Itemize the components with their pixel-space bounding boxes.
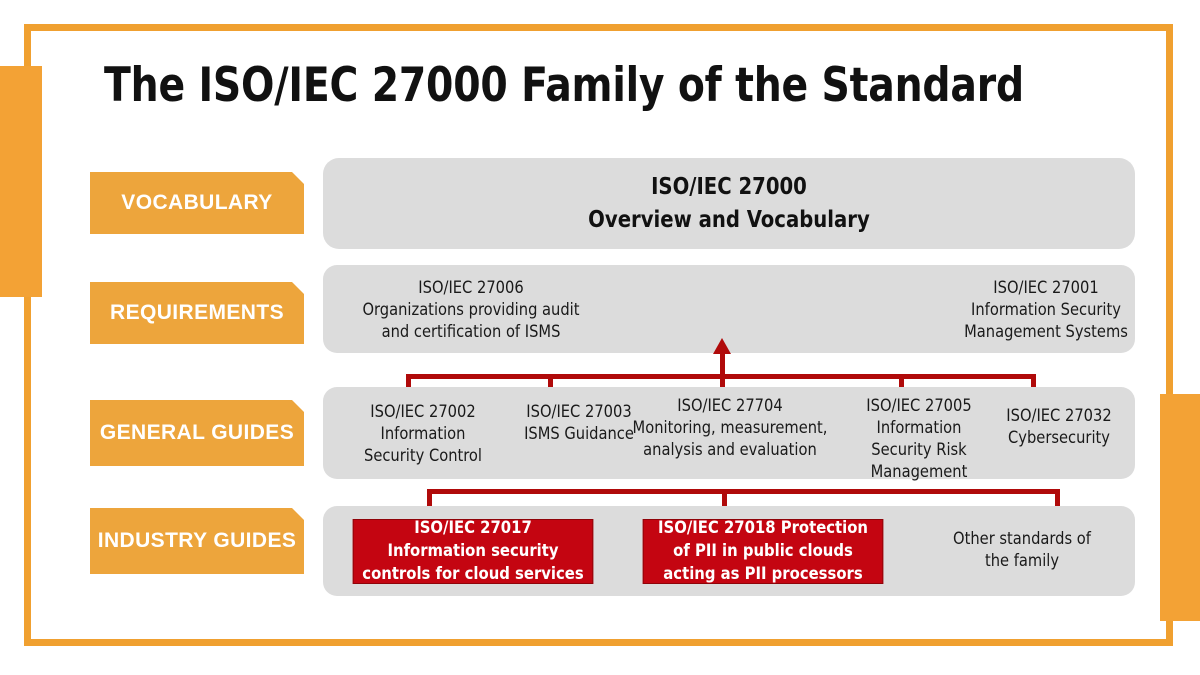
standard-card-27701[interactable]: ISO/IEC 27701 Privacy Information Manage… bbox=[1194, 277, 1200, 343]
standard-card-27006[interactable]: ISO/IEC 27006 Organizations providing au… bbox=[342, 277, 599, 343]
standard-card-27002[interactable]: ISO/IEC 27002 Information Security Contr… bbox=[340, 401, 505, 467]
slide-canvas: The ISO/IEC 27000 Family of the Standard… bbox=[0, 0, 1200, 675]
row-tag-requirements[interactable]: REQUIREMENTS bbox=[90, 282, 304, 344]
connector-lower-stub-2 bbox=[722, 489, 727, 507]
row-tag-industry-guides[interactable]: INDUSTRY GUIDES bbox=[90, 508, 304, 574]
decorative-block-left bbox=[0, 66, 42, 297]
frame-top-border bbox=[24, 24, 1173, 31]
row-tag-general-guides[interactable]: GENERAL GUIDES bbox=[90, 400, 304, 466]
standard-card-27001[interactable]: ISO/IEC 27001 Information Security Manag… bbox=[926, 277, 1166, 343]
standard-card-27018[interactable]: ISO/IEC 27018 Protection of PII in publi… bbox=[643, 519, 884, 584]
row-panel-general-guides: ISO/IEC 27002 Information Security Contr… bbox=[323, 387, 1135, 479]
standard-card-27017[interactable]: ISO/IEC 27017 Information security contr… bbox=[353, 519, 594, 584]
arrowhead-up-icon bbox=[713, 338, 731, 354]
connector-lower-stub-3 bbox=[1055, 489, 1060, 507]
standard-card-27704[interactable]: ISO/IEC 27704 Monitoring, measurement, a… bbox=[610, 395, 850, 461]
row-panel-vocabulary: ISO/IEC 27000 Overview and Vocabulary bbox=[323, 158, 1135, 249]
standard-card-27032[interactable]: ISO/IEC 27032 Cybersecurity bbox=[976, 405, 1141, 449]
row-tag-vocabulary[interactable]: VOCABULARY bbox=[90, 172, 304, 234]
standard-card-other[interactable]: Other standards of the family bbox=[931, 528, 1113, 572]
connector-lower-stub-1 bbox=[427, 489, 432, 507]
page-title: The ISO/IEC 27000 Family of the Standard bbox=[104, 57, 1034, 115]
row-panel-industry-guides: ISO/IEC 27017 Information security contr… bbox=[323, 506, 1135, 596]
standard-card-27000[interactable]: ISO/IEC 27000 Overview and Vocabulary bbox=[343, 158, 1114, 249]
connector-upper-stem bbox=[720, 352, 725, 376]
connector-lower-bar bbox=[427, 489, 1060, 494]
frame-bottom-border bbox=[24, 639, 1173, 646]
decorative-block-right bbox=[1160, 394, 1200, 621]
